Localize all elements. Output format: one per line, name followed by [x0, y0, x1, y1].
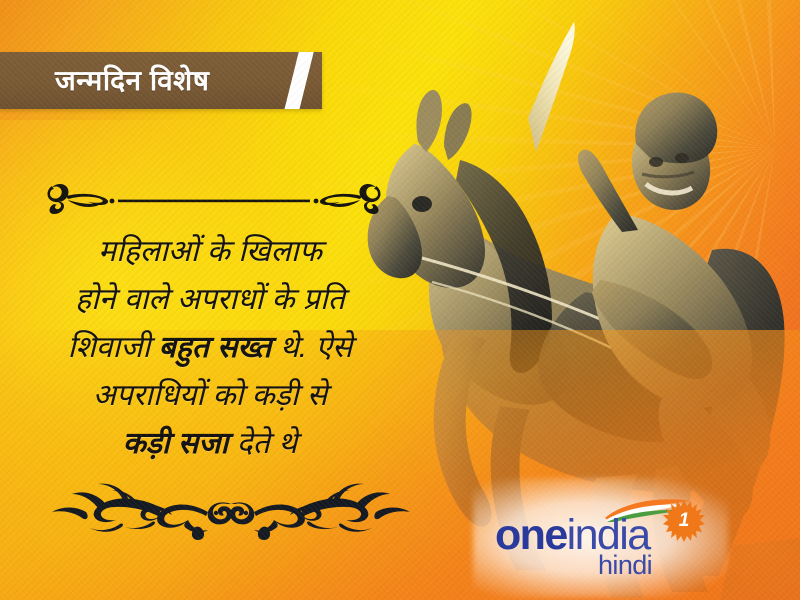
quote-line-2: होने वाले अपराधों के प्रति: [24, 276, 396, 324]
category-banner: जन्मदिन विशेष: [0, 52, 322, 109]
quote-line-5: कड़ी सजा देते थे: [24, 420, 396, 468]
quote-line-3-emphasis: बहुत सख्त: [159, 331, 272, 364]
slash-icon: [281, 52, 315, 109]
quote-line-1-plain: महिलाओं के खिलाफ: [98, 235, 322, 268]
quote-line-3-plain-before: शिवाजी: [68, 331, 159, 364]
quote-line-1: महिलाओं के खिलाफ: [24, 228, 396, 276]
divider-ornament-top: [44, 176, 384, 214]
oneindia-hindi-logo[interactable]: oneindia 1 hindi: [495, 492, 710, 588]
quote-line-4-plain: अपराधियों को कड़ी से: [93, 379, 327, 412]
quote-text: महिलाओं के खिलाफ होने वाले अपराधों के प्…: [24, 228, 396, 468]
logo-sub-label: hindi: [598, 552, 652, 579]
divider-ornament-bottom: [42, 482, 420, 544]
quote-line-4: अपराधियों को कड़ी से: [24, 372, 396, 420]
logo-word-one: one: [495, 511, 567, 559]
category-banner-label: जन्मदिन विशेष: [55, 61, 209, 99]
quote-line-5-emphasis: कड़ी सजा: [123, 427, 229, 460]
badge-number: 1: [663, 500, 705, 542]
badge-starburst-icon: 1: [663, 500, 705, 542]
birthday-special-quote-card: जन्मदिन विशेष: [0, 0, 800, 600]
quote-line-3-plain-after: थे. ऐसे: [271, 331, 352, 364]
quote-line-3: शिवाजी बहुत सख्त थे. ऐसे: [24, 324, 396, 372]
quote-line-2-plain: होने वाले अपराधों के प्रति: [75, 283, 345, 316]
quote-line-5-plain-after: देते थे: [228, 427, 297, 460]
